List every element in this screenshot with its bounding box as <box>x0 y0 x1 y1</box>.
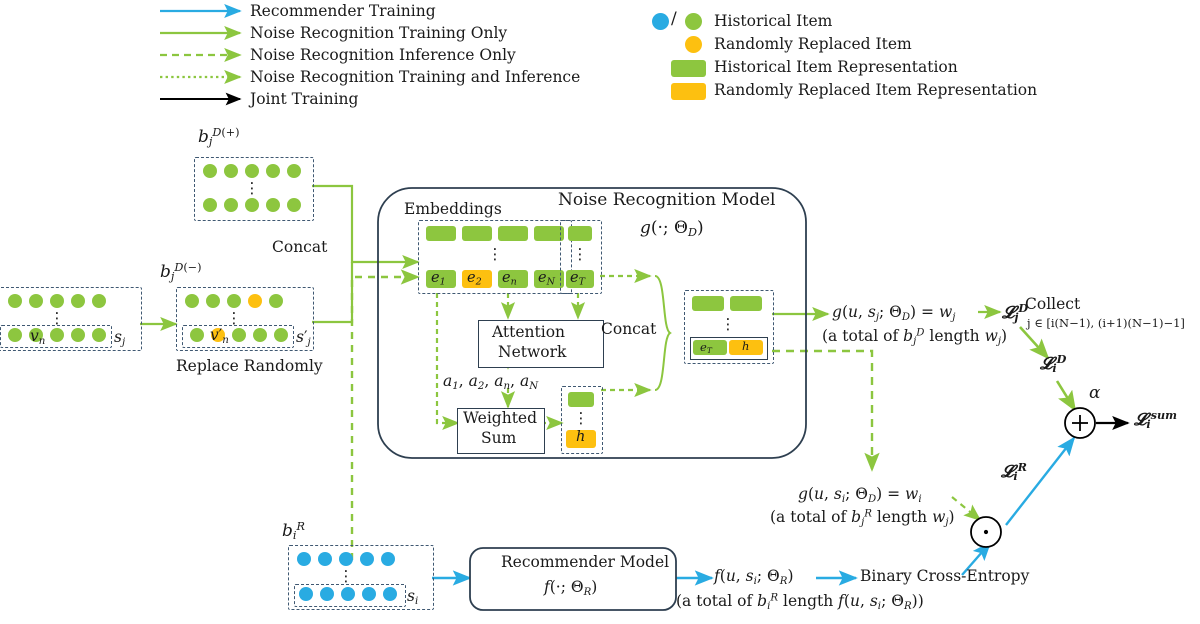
concat-output-label-eT: eT <box>700 340 712 355</box>
pos-item-dot <box>203 164 217 178</box>
inference-output-expr: g(u, si; ΘD) = wi <box>798 485 922 505</box>
legend-left-item-3: Noise Recognition Training and Inference <box>250 68 580 86</box>
concat-caption-left: Concat <box>272 238 327 256</box>
attention-network-line2: Network <box>498 343 566 361</box>
legend-historical-item-green-circle <box>685 13 702 30</box>
pos-item-dot <box>224 164 238 178</box>
legend-right-item-3: Randomly Replaced Item Representation <box>714 81 1037 99</box>
source-seq-dot <box>71 328 85 342</box>
rec-item-dot <box>381 552 395 566</box>
legend-left-item-4: Joint Training <box>250 90 358 108</box>
attention-network-line1: Attention <box>492 323 565 341</box>
rec-batch-label: biR <box>282 520 305 542</box>
rec-item-dot <box>318 552 332 566</box>
recommender-output-note: (a total of biR length f(u, si; ΘR)) <box>676 592 924 612</box>
collect-label: Collect <box>1025 295 1080 313</box>
alpha-label: α <box>1089 383 1100 403</box>
target-embedding-label-eT: eT <box>570 270 585 288</box>
target-embedding-cell <box>568 226 592 241</box>
rec-item-dot <box>339 552 353 566</box>
source-item-vn-label: vn <box>30 327 45 347</box>
neg-item-dot <box>206 294 220 308</box>
legend-right-item-0: Historical Item <box>714 12 832 30</box>
noise-model-function: g(·; ΘD) <box>640 218 704 239</box>
source-item-dot <box>92 294 106 308</box>
noise-model-title: Noise Recognition Model <box>558 190 776 210</box>
edge-e1-weightedsum <box>437 293 458 423</box>
legend-replaced-item-circle <box>685 36 702 53</box>
hidden-vdots: ⋮ <box>573 414 589 423</box>
rec-seq-dot <box>341 587 355 601</box>
recommender-model-title: Recommender Model <box>501 553 669 571</box>
embedding-cell <box>462 226 492 241</box>
pos-item-dot <box>203 198 217 212</box>
source-seq-sj-label: sj <box>114 328 125 348</box>
legend-right-item-2: Historical Item Representation <box>714 58 958 76</box>
edge-concat-inference <box>772 351 872 470</box>
neg-seq-dot <box>190 328 204 342</box>
legend-left-item-1: Noise Recognition Training Only <box>250 24 507 42</box>
neg-batch-label: bjD(−) <box>160 261 202 283</box>
neg-batch-vdots: ⋮ <box>226 314 242 323</box>
pos-item-dot <box>245 198 259 212</box>
binary-cross-entropy-label: Binary Cross-Entropy <box>860 567 1029 585</box>
rec-seq-si-label: si <box>407 587 418 607</box>
loss-R-i-label: 𝓛iR <box>1001 460 1027 483</box>
hidden-label-h: h <box>576 429 585 445</box>
attention-weights-label: a1, a2, an, aN <box>443 372 538 392</box>
weighted-sum-line1: Weighted <box>463 409 537 427</box>
loss-sum-label: 𝓛isum <box>1134 408 1177 431</box>
rec-batch-vdots: ⋮ <box>338 572 354 581</box>
legend-line-samples <box>160 11 240 99</box>
pos-item-dot <box>224 198 238 212</box>
pos-item-dot <box>266 164 280 178</box>
source-item-dot <box>8 294 22 308</box>
source-item-dot <box>29 294 43 308</box>
embedding-cell <box>426 226 456 241</box>
replaced-seq-sj-label: s′j <box>296 328 311 348</box>
replace-randomly-caption: Replace Randomly <box>176 357 323 375</box>
neg-seq-dot <box>253 328 267 342</box>
concat-output-vdots: ⋮ <box>720 320 736 329</box>
rec-seq-dot <box>299 587 313 601</box>
edge-neg-batch-concat <box>312 262 352 322</box>
legend-historical-representation-rect <box>671 60 706 77</box>
embedding-cell <box>498 226 528 241</box>
neg-seq-dot <box>232 328 246 342</box>
source-seq-dot <box>50 328 64 342</box>
diagram-canvas: Recommender Training Noise Recognition T… <box>0 0 1200 624</box>
pos-item-dot <box>245 164 259 178</box>
edge-rec-seq-embeddings <box>352 277 418 560</box>
concat-output-cell <box>730 296 762 311</box>
legend-left-item-2: Noise Recognition Inference Only <box>250 46 516 64</box>
replaced-item-vn-label: v′n <box>210 326 229 346</box>
pos-item-dot <box>266 198 280 212</box>
rec-seq-dot <box>362 587 376 601</box>
neg-item-dot <box>269 294 283 308</box>
edge-lossDi-plus <box>1057 381 1075 410</box>
source-seq-dot <box>92 328 106 342</box>
embedding-label-e1: e1 <box>431 270 446 288</box>
pos-batch-label: bjD(+) <box>198 126 240 148</box>
legend-right-item-1: Randomly Replaced Item <box>714 35 912 53</box>
legend-replaced-representation-rect <box>671 83 706 100</box>
embedding-label-e2: e2 <box>467 270 482 288</box>
target-embedding-vdots: ⋮ <box>572 250 588 259</box>
loss-D-i-label: 𝓛iD <box>1040 352 1066 375</box>
neg-seq-dot <box>274 328 288 342</box>
concat-caption-model: Concat <box>601 320 656 338</box>
pos-item-dot <box>287 164 301 178</box>
embeddings-title: Embeddings <box>404 200 502 218</box>
embedding-label-eN: eN <box>538 270 555 288</box>
rec-item-dot <box>360 552 374 566</box>
noise-output-note: (a total of bjD length wj) <box>822 327 1007 347</box>
inference-output-note: (a total of bjR length wj) <box>770 508 955 528</box>
neg-item-dot-replaced <box>248 294 262 308</box>
source-batch-vdots: ⋮ <box>49 314 65 323</box>
recommender-model-function: f(·; ΘR) <box>544 578 597 598</box>
concat-output-cell <box>692 296 724 311</box>
source-seq-dot <box>8 328 22 342</box>
noise-output-expr: g(u, sj; ΘD) = wj <box>832 303 955 323</box>
source-item-dot <box>50 294 64 308</box>
concat-output-label-h: h <box>742 339 749 353</box>
hidden-cell <box>568 392 594 407</box>
concat-brace <box>655 276 670 390</box>
recommender-output-expr: f(u, si; ΘR) <box>714 567 794 587</box>
legend-historical-item-blue-circle <box>652 13 669 30</box>
neg-item-dot <box>185 294 199 308</box>
embedding-label-en: en <box>502 270 517 288</box>
rec-seq-dot <box>320 587 334 601</box>
edge-inference-dot <box>952 497 980 520</box>
neg-item-dot <box>227 294 241 308</box>
rec-seq-dot <box>383 587 397 601</box>
pos-batch-vdots: ⋮ <box>244 184 260 193</box>
collect-range: j ∈ [i(N−1), (i+1)(N−1)−1] <box>1027 316 1185 330</box>
source-item-dot <box>71 294 85 308</box>
rec-item-dot <box>297 552 311 566</box>
embeddings-vdots: ⋮ <box>487 250 503 259</box>
weighted-sum-line2: Sum <box>481 429 516 447</box>
legend-slash-separator: / <box>671 9 677 29</box>
edge-pos-batch-concat <box>312 186 418 262</box>
legend-left-item-0: Recommender Training <box>250 2 436 20</box>
pos-item-dot <box>287 198 301 212</box>
